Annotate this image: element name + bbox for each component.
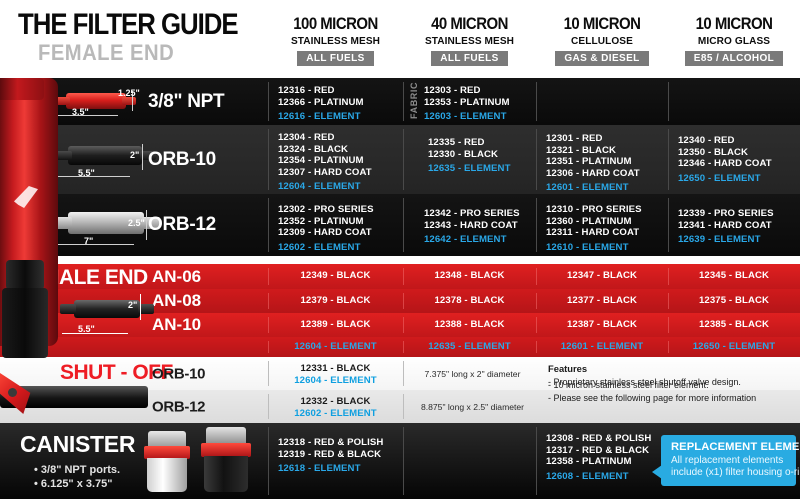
column-micron: 100 MICRON bbox=[276, 14, 395, 34]
features-block-cont: - 10 micron stainless steel filter eleme… bbox=[548, 379, 756, 404]
part-number: 12306 - HARD COAT bbox=[546, 168, 668, 180]
shutoff-valve-art-icon bbox=[0, 370, 150, 422]
element-number: 12601 - ELEMENT bbox=[538, 341, 666, 353]
part-number: 12350 - BLACK bbox=[678, 147, 800, 159]
cell-r3c1: 12302 - PRO SERIES 12352 - PLATINUM 1230… bbox=[278, 194, 400, 256]
part-number: 12311 - HARD COAT bbox=[546, 227, 668, 239]
part-number: 12379 - BLACK bbox=[270, 295, 401, 307]
row-male-end-elements: 12604 - ELEMENT 12635 - ELEMENT 12601 - … bbox=[0, 337, 800, 357]
element-number: 12602 - ELEMENT bbox=[278, 242, 400, 254]
part-number: 12321 - BLACK bbox=[546, 145, 668, 157]
cell-r1c2: 12303 - RED 12353 - PLATINUM 12603 - ELE… bbox=[424, 78, 544, 125]
dim-length-label: 7" bbox=[84, 236, 93, 246]
element-number: 12618 - ELEMENT bbox=[278, 463, 402, 475]
column-micron: 40 MICRON bbox=[411, 14, 528, 34]
callout-heading: REPLACEMENT ELEMENTS bbox=[671, 441, 787, 453]
part-number: 12304 - RED bbox=[278, 132, 400, 144]
part-number: 12335 - RED bbox=[428, 137, 548, 149]
page-title: THE FILTER GUIDE bbox=[18, 8, 238, 42]
cell-r1c1: 12316 - RED 12366 - PLATINUM 12616 - ELE… bbox=[278, 78, 398, 125]
cell-shutoff-orb10-part: 12331 - BLACK 12604 - ELEMENT bbox=[270, 357, 401, 390]
part-number: 12330 - BLACK bbox=[428, 149, 548, 161]
column-micron: 10 MICRON bbox=[544, 14, 660, 34]
cell-r3c2: 12342 - PRO SERIES 12343 - HARD COAT 126… bbox=[424, 194, 546, 256]
element-number: 12635 - ELEMENT bbox=[428, 163, 548, 175]
part-number: 12303 - RED bbox=[424, 85, 544, 97]
filter-guide-page: THE FILTER GUIDE FEMALE END 100 MICRON S… bbox=[0, 0, 800, 499]
row-orb-12-female: 7" 2.5" ORB-12 12302 - PRO SERIES 12352 … bbox=[0, 194, 800, 256]
column-fuel-badge: GAS & DIESEL bbox=[555, 51, 648, 66]
column-divider bbox=[668, 198, 669, 252]
part-number: 12347 - BLACK bbox=[538, 270, 666, 282]
dim-length-label: 5.5" bbox=[78, 324, 95, 334]
guide-table: 3.5" 1.25" 3/8" NPT FABRIC 12316 - RED 1… bbox=[0, 78, 800, 499]
column-fuel-badge: E85 / ALCOHOL bbox=[685, 51, 783, 66]
part-number: 12387 - BLACK bbox=[538, 319, 666, 331]
row-size-label: ORB-10 bbox=[152, 365, 205, 382]
callout-line-1: All replacement elements bbox=[671, 455, 787, 467]
red-bottle-cap-icon bbox=[0, 78, 44, 100]
callout-tail-icon bbox=[652, 465, 662, 479]
row-size-label: ORB-12 bbox=[152, 398, 205, 415]
cell-canister-c3: 12308 - RED & POLISH 12317 - RED & BLACK… bbox=[546, 423, 670, 499]
column-header-3: 10 MICRON CELLULOSE GAS & DIESEL bbox=[536, 14, 668, 66]
cell-an08-c4: 12375 - BLACK bbox=[670, 289, 798, 313]
shutoff-dims-orb12: 8.875" long x 2.5" diameter bbox=[410, 402, 535, 412]
cell-r2c2: 12335 - RED 12330 - BLACK 12635 - ELEMEN… bbox=[428, 125, 548, 194]
part-number: 12310 - PRO SERIES bbox=[546, 204, 668, 216]
cell-r2c1: 12304 - RED 12324 - BLACK 12354 - PLATIN… bbox=[278, 125, 400, 194]
part-number: 12340 - RED bbox=[678, 135, 800, 147]
part-number: 12351 - PLATINUM bbox=[546, 156, 668, 168]
header: THE FILTER GUIDE FEMALE END 100 MICRON S… bbox=[0, 0, 800, 78]
an-fitting-art-icon bbox=[2, 260, 50, 360]
cell-an10-c2: 12388 - BLACK bbox=[405, 313, 534, 337]
row-size-label: ORB-10 bbox=[148, 149, 216, 171]
cell-r2c3: 12301 - RED 12321 - BLACK 12351 - PLATIN… bbox=[546, 125, 668, 194]
cell-r3c4: 12339 - PRO SERIES 12341 - HARD COAT 126… bbox=[678, 194, 800, 256]
cell-an06-c4: 12345 - BLACK bbox=[670, 264, 798, 289]
part-number: 12332 - BLACK bbox=[270, 396, 401, 408]
part-number: 12346 - HARD COAT bbox=[678, 158, 800, 170]
part-number: 12375 - BLACK bbox=[670, 295, 798, 307]
column-header-1: 100 MICRON STAINLESS MESH ALL FUELS bbox=[268, 14, 403, 66]
column-divider bbox=[268, 82, 269, 121]
column-header-4: 10 MICRON MICRO GLASS E85 / ALCOHOL bbox=[668, 14, 800, 66]
cell-r3c3: 12310 - PRO SERIES 12360 - PLATINUM 1231… bbox=[546, 194, 668, 256]
part-number: 12307 - HARD COAT bbox=[278, 167, 400, 179]
column-fuel-badge: ALL FUELS bbox=[431, 51, 507, 66]
column-fuel-badge: ALL FUELS bbox=[297, 51, 373, 66]
part-number: 12345 - BLACK bbox=[670, 270, 798, 282]
column-divider bbox=[668, 82, 669, 121]
page-subtitle: FEMALE END bbox=[38, 40, 174, 66]
cell-an08-c2: 12378 - BLACK bbox=[405, 289, 534, 313]
part-number: 12318 - RED & POLISH bbox=[278, 437, 402, 449]
part-number: 12343 - HARD COAT bbox=[424, 220, 546, 232]
row-size-label: AN-06 bbox=[152, 267, 201, 287]
column-divider bbox=[403, 198, 404, 252]
cell-an06-c1: 12349 - BLACK bbox=[270, 264, 401, 289]
element-number: 12616 - ELEMENT bbox=[278, 111, 398, 123]
cell-an06-c2: 12348 - BLACK bbox=[405, 264, 534, 289]
cell-canister-c1: 12318 - RED & POLISH 12319 - RED & BLACK… bbox=[278, 423, 402, 499]
part-number: 12366 - PLATINUM bbox=[278, 97, 398, 109]
column-type: STAINLESS MESH bbox=[406, 35, 534, 47]
filter-art-black-icon bbox=[56, 142, 156, 168]
dim-length-label: 3.5" bbox=[72, 107, 89, 117]
cell-an10-c1: 12389 - BLACK bbox=[270, 313, 401, 337]
dim-diameter-label: 1.25" bbox=[118, 88, 140, 98]
element-number: 12650 - ELEMENT bbox=[670, 341, 798, 353]
cell-male-el-c2: 12635 - ELEMENT bbox=[405, 337, 534, 357]
cell-male-el-c1: 12604 - ELEMENT bbox=[270, 337, 401, 357]
column-divider bbox=[268, 129, 269, 190]
cell-an06-c3: 12347 - BLACK bbox=[538, 264, 666, 289]
row-3-8-npt: 3.5" 1.25" 3/8" NPT FABRIC 12316 - RED 1… bbox=[0, 78, 800, 125]
part-number: 12308 - RED & POLISH bbox=[546, 433, 670, 445]
part-number: 12354 - PLATINUM bbox=[278, 155, 400, 167]
shutoff-dims-orb10: 7.375" long x 2" diameter bbox=[410, 369, 535, 379]
cell-male-el-c3: 12601 - ELEMENT bbox=[538, 337, 666, 357]
part-number: 12301 - RED bbox=[546, 133, 668, 145]
section-label-canister: CANISTER bbox=[20, 431, 135, 458]
part-number: 12342 - PRO SERIES bbox=[424, 208, 546, 220]
part-number: 12352 - PLATINUM bbox=[278, 216, 400, 228]
dim-diameter-label: 2.5" bbox=[128, 218, 145, 228]
part-number: 12348 - BLACK bbox=[405, 270, 534, 282]
cell-an08-c3: 12377 - BLACK bbox=[538, 289, 666, 313]
row-size-label: 3/8" NPT bbox=[148, 91, 224, 113]
replacement-elements-callout: REPLACEMENT ELEMENTS All replacement ele… bbox=[661, 435, 796, 486]
element-number: 12602 - ELEMENT bbox=[270, 408, 401, 420]
element-number: 12639 - ELEMENT bbox=[678, 234, 800, 246]
cell-male-el-c4: 12650 - ELEMENT bbox=[670, 337, 798, 357]
cell-an10-c3: 12387 - BLACK bbox=[538, 313, 666, 337]
canister-art-polish-icon bbox=[140, 431, 200, 493]
fabric-tag: FABRIC bbox=[409, 82, 419, 119]
part-number: 12385 - BLACK bbox=[670, 319, 798, 331]
element-number: 12601 - ELEMENT bbox=[546, 182, 668, 194]
part-number: 12302 - PRO SERIES bbox=[278, 204, 400, 216]
element-number: 12635 - ELEMENT bbox=[405, 341, 534, 353]
column-divider bbox=[403, 129, 404, 190]
canister-bullet-2: • 6.125" x 3.75" bbox=[34, 477, 113, 491]
element-number: 12604 - ELEMENT bbox=[278, 181, 400, 193]
cell-an08-c1: 12379 - BLACK bbox=[270, 289, 401, 313]
part-number: 12341 - HARD COAT bbox=[678, 220, 800, 232]
dim-length-label: 5.5" bbox=[78, 168, 95, 178]
column-divider bbox=[668, 129, 669, 190]
column-header-2: 40 MICRON STAINLESS MESH ALL FUELS bbox=[403, 14, 536, 66]
column-divider bbox=[268, 198, 269, 252]
element-number: 12603 - ELEMENT bbox=[424, 111, 544, 123]
part-number: 12331 - BLACK bbox=[270, 363, 401, 375]
part-number: 12377 - BLACK bbox=[538, 295, 666, 307]
part-number: 12378 - BLACK bbox=[405, 295, 534, 307]
canister-bullet-1: • 3/8" NPT ports. bbox=[34, 463, 120, 477]
part-number: 12339 - PRO SERIES bbox=[678, 208, 800, 220]
element-number: 12610 - ELEMENT bbox=[546, 242, 668, 254]
filter-art-male-icon bbox=[60, 292, 160, 326]
part-number: 12324 - BLACK bbox=[278, 144, 400, 156]
row-orb-10-female: 5.5" 2" ORB-10 12304 - RED 12324 - BLACK… bbox=[0, 125, 800, 194]
element-number: 12642 - ELEMENT bbox=[424, 234, 546, 246]
part-number: 12319 - RED & BLACK bbox=[278, 449, 402, 461]
part-number: 12389 - BLACK bbox=[270, 319, 401, 331]
cell-r2c4: 12340 - RED 12350 - BLACK 12346 - HARD C… bbox=[678, 125, 800, 194]
features-item: - Please see the following page for more… bbox=[548, 392, 756, 405]
part-number: 12349 - BLACK bbox=[270, 270, 401, 282]
column-micron: 10 MICRON bbox=[676, 14, 792, 34]
canister-art-black-icon bbox=[196, 427, 258, 493]
part-number: 12353 - PLATINUM bbox=[424, 97, 544, 109]
element-number: 12604 - ELEMENT bbox=[270, 341, 401, 353]
column-type: CELLULOSE bbox=[539, 35, 666, 47]
part-number: 12360 - PLATINUM bbox=[546, 216, 668, 228]
row-canister: CANISTER • 3/8" NPT ports. • 6.125" x 3.… bbox=[0, 423, 800, 499]
features-heading: Features bbox=[548, 363, 741, 374]
element-number: 12604 - ELEMENT bbox=[270, 375, 401, 387]
part-number: 12309 - HARD COAT bbox=[278, 227, 400, 239]
column-divider bbox=[403, 82, 404, 121]
cell-an10-c4: 12385 - BLACK bbox=[670, 313, 798, 337]
column-type: STAINLESS MESH bbox=[271, 35, 401, 47]
part-number: 12316 - RED bbox=[278, 85, 398, 97]
row-an-06: MALE END AN-06 12349 - BLACK 12348 - BLA… bbox=[0, 264, 800, 289]
column-type: MICRO GLASS bbox=[671, 35, 798, 47]
element-number: 12650 - ELEMENT bbox=[678, 173, 800, 185]
part-number: 12317 - RED & BLACK bbox=[546, 445, 670, 457]
dim-diameter-label: 2" bbox=[130, 150, 139, 160]
row-size-label: ORB-12 bbox=[148, 214, 216, 236]
callout-line-2: include (x1) filter housing o-ring bbox=[671, 467, 787, 479]
cell-shutoff-orb12-part: 12332 - BLACK 12602 - ELEMENT bbox=[270, 390, 401, 423]
features-item: - 10 micron stainless steel filter eleme… bbox=[548, 379, 756, 392]
part-number: 12388 - BLACK bbox=[405, 319, 534, 331]
dim-diameter-label: 2" bbox=[128, 300, 137, 310]
